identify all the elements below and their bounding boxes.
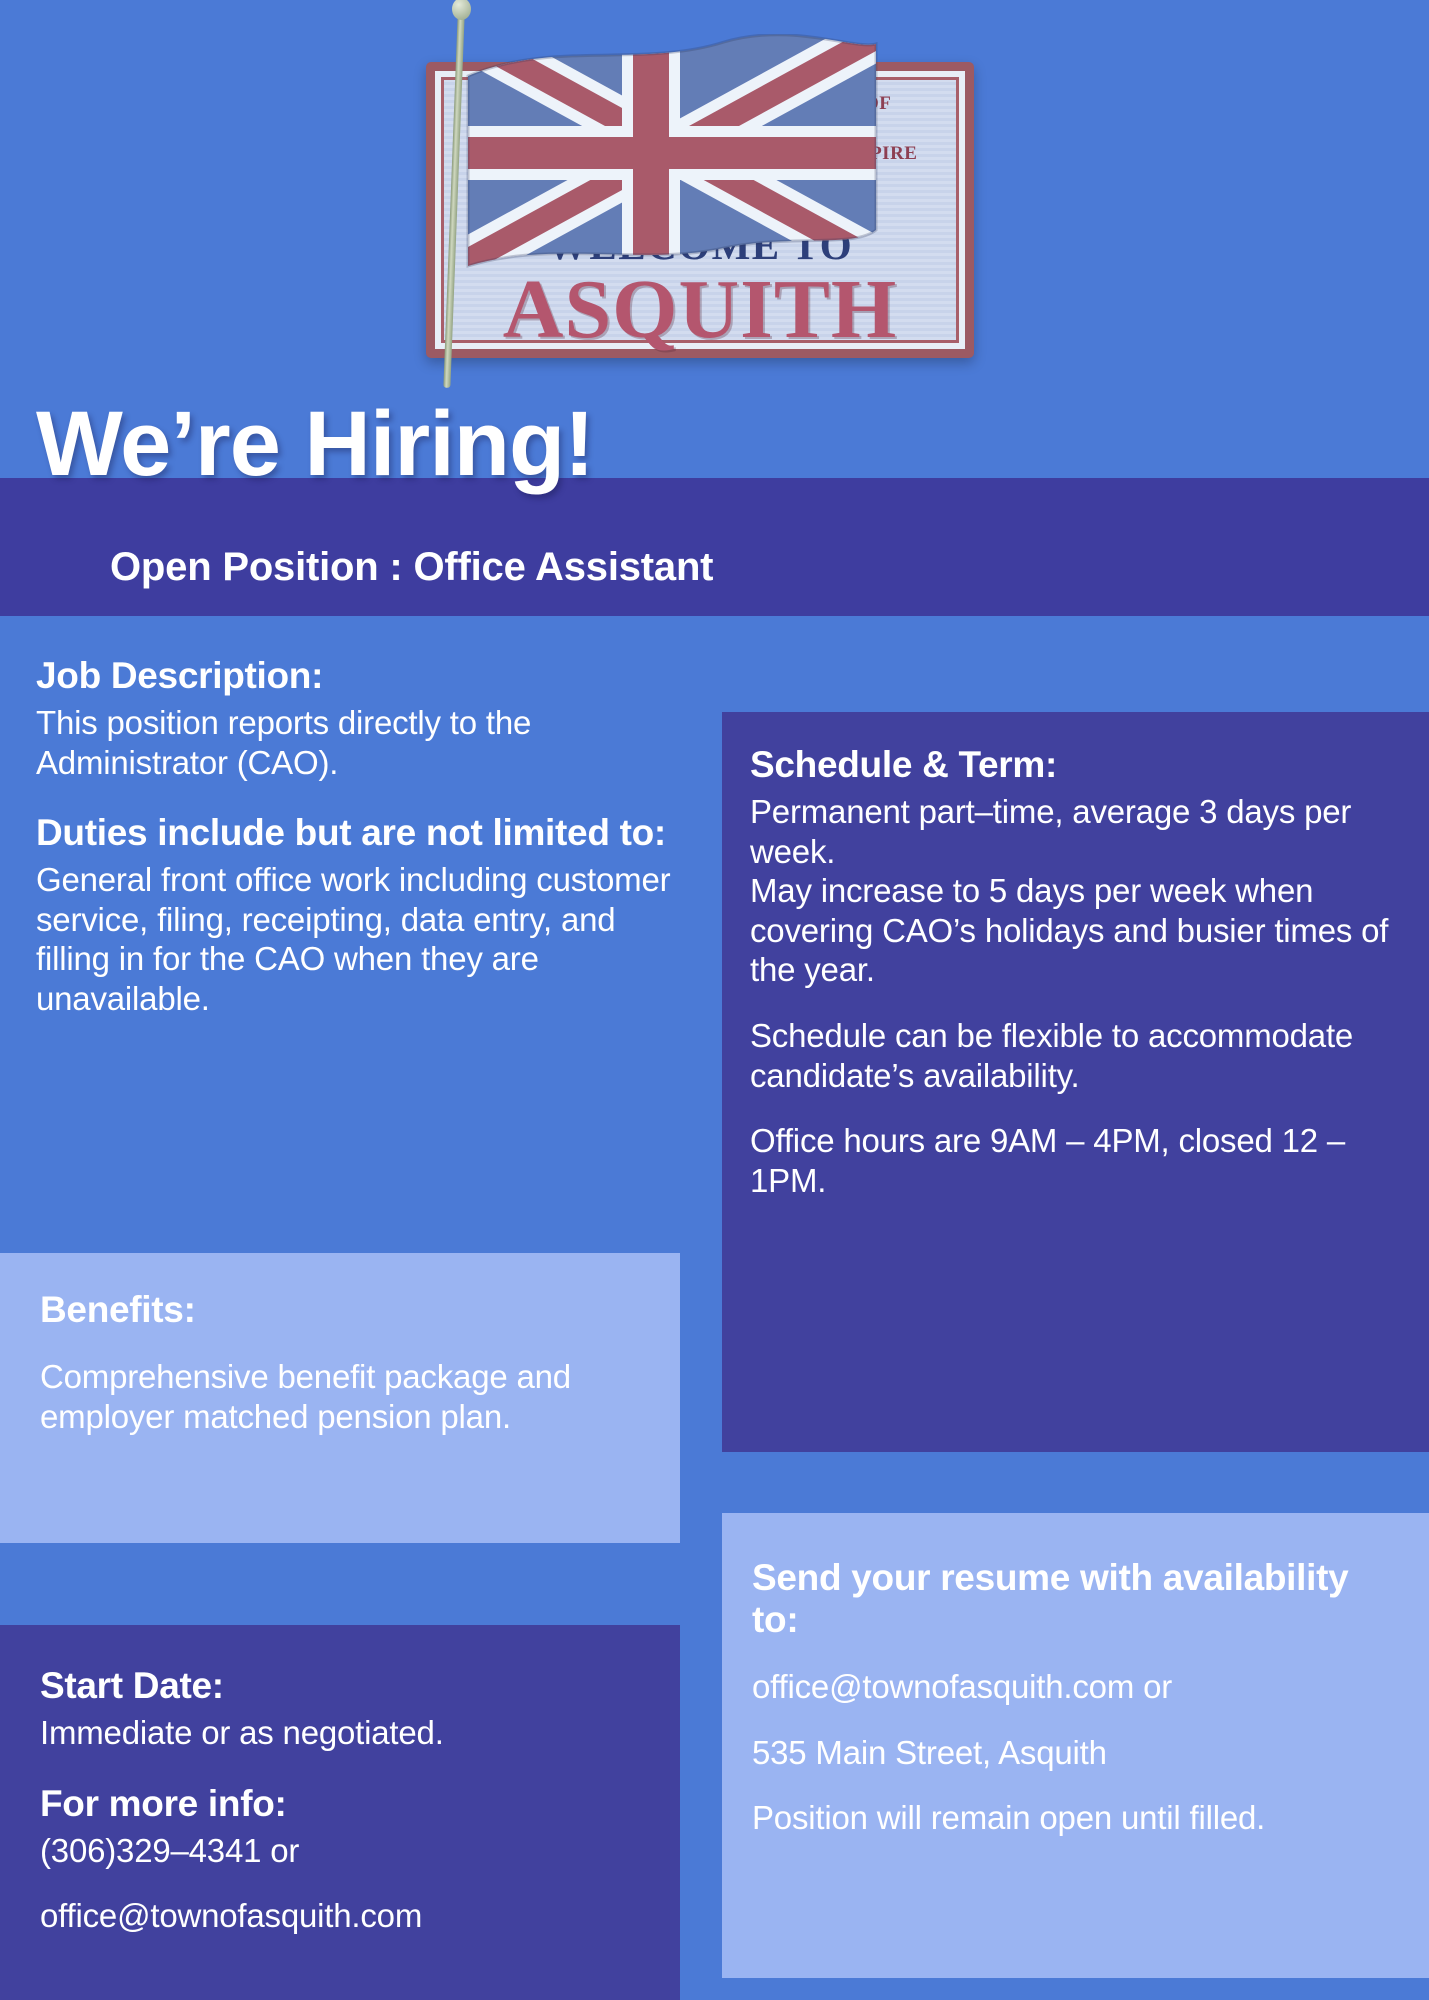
resume-address: 535 Main Street, Asquith xyxy=(752,1733,1399,1773)
start-date-panel: Start Date: Immediate or as negotiated. … xyxy=(0,1625,680,2000)
schedule-para-3: Schedule can be flexible to accommodate … xyxy=(750,1016,1401,1095)
schedule-heading: Schedule & Term: xyxy=(750,744,1401,786)
start-date-body: Immediate or as negotiated. xyxy=(40,1713,640,1753)
job-description-body: This position reports directly to the Ad… xyxy=(36,703,696,782)
schedule-para-1: Permanent part–time, average 3 days per … xyxy=(750,792,1401,871)
resume-email[interactable]: office@townofasquith.com or xyxy=(752,1667,1399,1707)
schedule-para-4: Office hours are 9AM – 4PM, closed 12 – … xyxy=(750,1121,1401,1200)
schedule-para-2: May increase to 5 days per week when cov… xyxy=(750,871,1401,990)
benefits-panel: Benefits: Comprehensive benefit package … xyxy=(0,1253,680,1543)
duties-body: General front office work including cust… xyxy=(36,860,696,1018)
more-info-heading: For more info: xyxy=(40,1783,640,1825)
contact-phone[interactable]: (306)329–4341 or xyxy=(40,1831,640,1871)
resume-note: Position will remain open until filled. xyxy=(752,1798,1399,1838)
duties-heading: Duties include but are not limited to: xyxy=(36,812,696,854)
job-posting-poster: CENTRE OF THE BRITISH EMPIRE WELCOME TO … xyxy=(0,0,1429,2000)
benefits-body: Comprehensive benefit package and employ… xyxy=(40,1357,640,1436)
job-description-heading: Job Description: xyxy=(36,655,696,697)
welcome-sign-graphic: CENTRE OF THE BRITISH EMPIRE WELCOME TO … xyxy=(410,6,980,406)
send-resume-heading: Send your resume with availability to: xyxy=(752,1557,1399,1641)
send-resume-panel: Send your resume with availability to: o… xyxy=(722,1513,1429,1978)
page-title: We’re Hiring! xyxy=(36,398,594,490)
union-jack-flag-icon xyxy=(462,34,882,294)
contact-email[interactable]: office@townofasquith.com xyxy=(40,1896,640,1936)
benefits-heading: Benefits: xyxy=(40,1289,640,1331)
flagpole-finial xyxy=(452,0,471,20)
spacer xyxy=(40,1753,640,1783)
open-position-subtitle: Open Position : Office Assistant xyxy=(110,545,713,590)
job-description-section: Job Description: This position reports d… xyxy=(36,655,696,1019)
start-date-heading: Start Date: xyxy=(40,1665,640,1707)
spacer xyxy=(36,782,696,812)
schedule-term-panel: Schedule & Term: Permanent part–time, av… xyxy=(722,712,1429,1452)
